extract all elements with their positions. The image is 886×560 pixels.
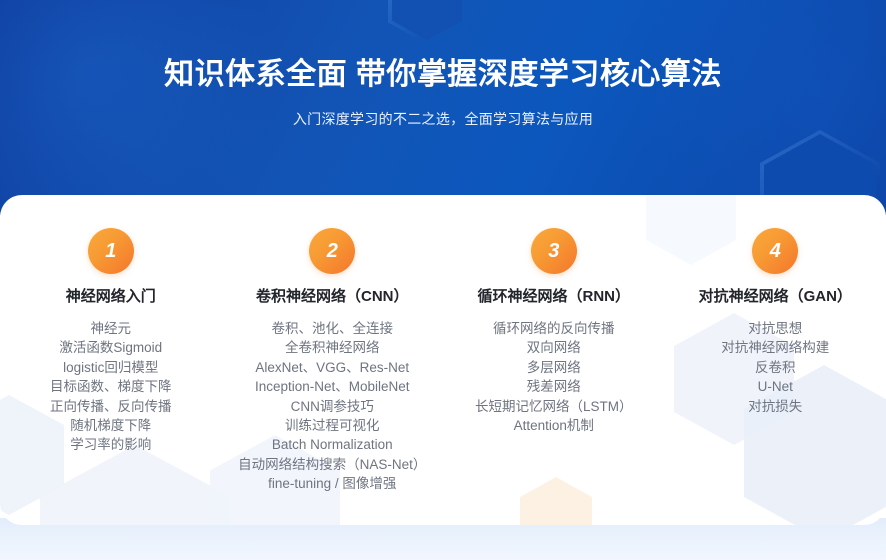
module-title-1: 神经网络入门 <box>0 286 222 308</box>
list-item: 多层网络 <box>443 358 665 377</box>
curriculum-column-3: 3 循环神经网络（RNN） 循环网络的反向传播 双向网络 多层网络 残差网络 长… <box>443 195 665 435</box>
list-item: 激活函数Sigmoid <box>0 338 222 357</box>
topic-list-3: 循环网络的反向传播 双向网络 多层网络 残差网络 长短期记忆网络（LSTM） A… <box>443 319 665 435</box>
list-item: 对抗思想 <box>665 319 886 338</box>
step-number-badge-4: 4 <box>752 228 798 274</box>
hero-banner: 知识体系全面 带你掌握深度学习核心算法 入门深度学习的不二之选，全面学习算法与应… <box>0 0 886 215</box>
list-item: 训练过程可视化 <box>222 416 444 435</box>
topic-list-1: 神经元 激活函数Sigmoid logistic回归模型 目标函数、梯度下降 正… <box>0 319 222 455</box>
list-item: logistic回归模型 <box>0 358 222 377</box>
curriculum-column-2: 2 卷积神经网络（CNN） 卷积、池化、全连接 全卷积神经网络 AlexNet、… <box>222 195 444 494</box>
list-item: 随机梯度下降 <box>0 416 222 435</box>
list-item: 自动网络结构搜索（NAS-Net） <box>222 455 444 474</box>
list-item: 长短期记忆网络（LSTM） <box>443 397 665 416</box>
page-subtitle: 入门深度学习的不二之选，全面学习算法与应用 <box>0 108 886 130</box>
list-item: CNN调参技巧 <box>222 397 444 416</box>
step-number-badge-2: 2 <box>309 228 355 274</box>
list-item: 反卷积 <box>665 358 886 377</box>
hexagon-outline-top-inner-decoration <box>392 0 462 40</box>
list-item: Batch Normalization <box>222 435 444 454</box>
list-item: 目标函数、梯度下降 <box>0 377 222 396</box>
curriculum-column-4: 4 对抗神经网络（GAN） 对抗思想 对抗神经网络构建 反卷积 U-Net 对抗… <box>665 195 886 416</box>
list-item: Inception-Net、MobileNet <box>222 377 444 396</box>
topic-list-2: 卷积、池化、全连接 全卷积神经网络 AlexNet、VGG、Res-Net In… <box>222 319 444 494</box>
module-title-2: 卷积神经网络（CNN） <box>222 286 444 308</box>
step-number-badge-1: 1 <box>88 228 134 274</box>
curriculum-column-1: 1 神经网络入门 神经元 激活函数Sigmoid logistic回归模型 目标… <box>0 195 222 455</box>
list-item: U-Net <box>665 377 886 396</box>
list-item: 循环网络的反向传播 <box>443 319 665 338</box>
list-item: Attention机制 <box>443 416 665 435</box>
module-title-3: 循环神经网络（RNN） <box>443 286 665 308</box>
list-item: AlexNet、VGG、Res-Net <box>222 358 444 377</box>
list-item: 正向传播、反向传播 <box>0 397 222 416</box>
list-item: 双向网络 <box>443 338 665 357</box>
page-title: 知识体系全面 带你掌握深度学习核心算法 <box>0 55 886 95</box>
topic-list-4: 对抗思想 对抗神经网络构建 反卷积 U-Net 对抗损失 <box>665 319 886 416</box>
promo-page: 知识体系全面 带你掌握深度学习核心算法 入门深度学习的不二之选，全面学习算法与应… <box>0 0 886 560</box>
list-item: 卷积、池化、全连接 <box>222 319 444 338</box>
list-item: fine-tuning / 图像增强 <box>222 474 444 493</box>
curriculum-card: 1 神经网络入门 神经元 激活函数Sigmoid logistic回归模型 目标… <box>0 195 886 525</box>
module-title-4: 对抗神经网络（GAN） <box>665 286 886 308</box>
list-item: 对抗损失 <box>665 397 886 416</box>
list-item: 对抗神经网络构建 <box>665 338 886 357</box>
curriculum-columns: 1 神经网络入门 神经元 激活函数Sigmoid logistic回归模型 目标… <box>0 195 886 525</box>
list-item: 神经元 <box>0 319 222 338</box>
list-item: 残差网络 <box>443 377 665 396</box>
list-item: 全卷积神经网络 <box>222 338 444 357</box>
step-number-badge-3: 3 <box>531 228 577 274</box>
list-item: 学习率的影响 <box>0 435 222 454</box>
